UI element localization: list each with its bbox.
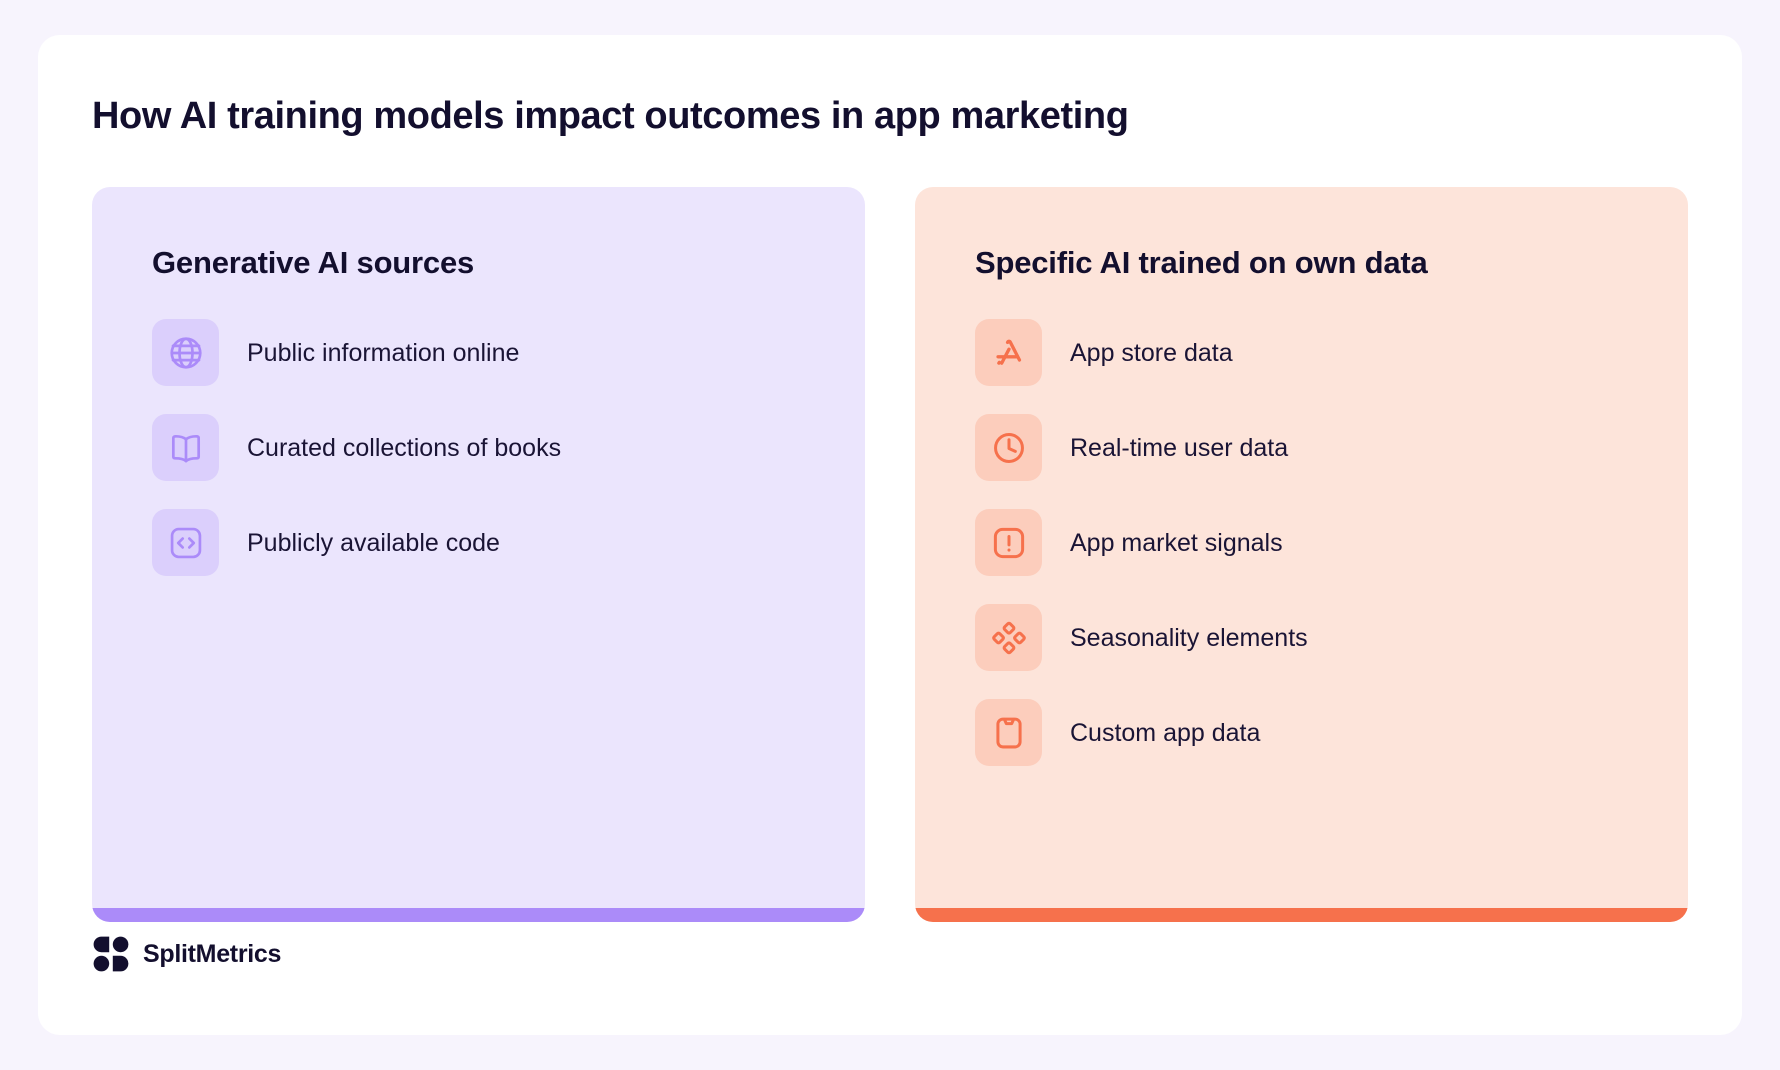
- list-item-label: Custom app data: [1070, 718, 1260, 748]
- list-item-label: Seasonality elements: [1070, 623, 1308, 653]
- card-heading-generative: Generative AI sources: [152, 245, 865, 281]
- globe-icon: [152, 319, 219, 386]
- list-item-label: App store data: [1070, 338, 1233, 368]
- open-book-icon: [152, 414, 219, 481]
- page-title: How AI training models impact outcomes i…: [92, 95, 1129, 138]
- card-accent-bar-specific: [915, 908, 1688, 922]
- list-generative-sources: Public information online Curated collec…: [152, 319, 865, 576]
- clock-icon: [975, 414, 1042, 481]
- splitmetrics-logo-icon: [92, 935, 130, 973]
- card-accent-bar-generative: [92, 908, 865, 922]
- list-item-label: App market signals: [1070, 528, 1283, 558]
- list-item-label: Public information online: [247, 338, 519, 368]
- card-generative-ai-sources: Generative AI sources Public information…: [92, 187, 865, 922]
- card-specific-ai-own-data: Specific AI trained on own data App stor…: [915, 187, 1688, 922]
- list-item-label: Curated collections of books: [247, 433, 561, 463]
- list-specific-data-sources: App store data Real-time user data: [975, 319, 1688, 766]
- list-item: Seasonality elements: [975, 604, 1688, 671]
- list-item-label: Real-time user data: [1070, 433, 1288, 463]
- brand-name-label: SplitMetrics: [143, 940, 281, 969]
- app-store-icon: [975, 319, 1042, 386]
- brand-footer: SplitMetrics: [92, 935, 281, 973]
- infographic-panel: How AI training models impact outcomes i…: [38, 35, 1742, 1035]
- list-item: App store data: [975, 319, 1688, 386]
- alert-square-icon: [975, 509, 1042, 576]
- list-item: Publicly available code: [152, 509, 865, 576]
- card-heading-specific: Specific AI trained on own data: [975, 245, 1688, 281]
- list-item-label: Publicly available code: [247, 528, 500, 558]
- list-item: App market signals: [975, 509, 1688, 576]
- list-item: Custom app data: [975, 699, 1688, 766]
- clipboard-icon: [975, 699, 1042, 766]
- list-item: Public information online: [152, 319, 865, 386]
- code-brackets-icon: [152, 509, 219, 576]
- four-diamonds-icon: [975, 604, 1042, 671]
- comparison-cards-row: Generative AI sources Public information…: [92, 187, 1688, 922]
- list-item: Real-time user data: [975, 414, 1688, 481]
- list-item: Curated collections of books: [152, 414, 865, 481]
